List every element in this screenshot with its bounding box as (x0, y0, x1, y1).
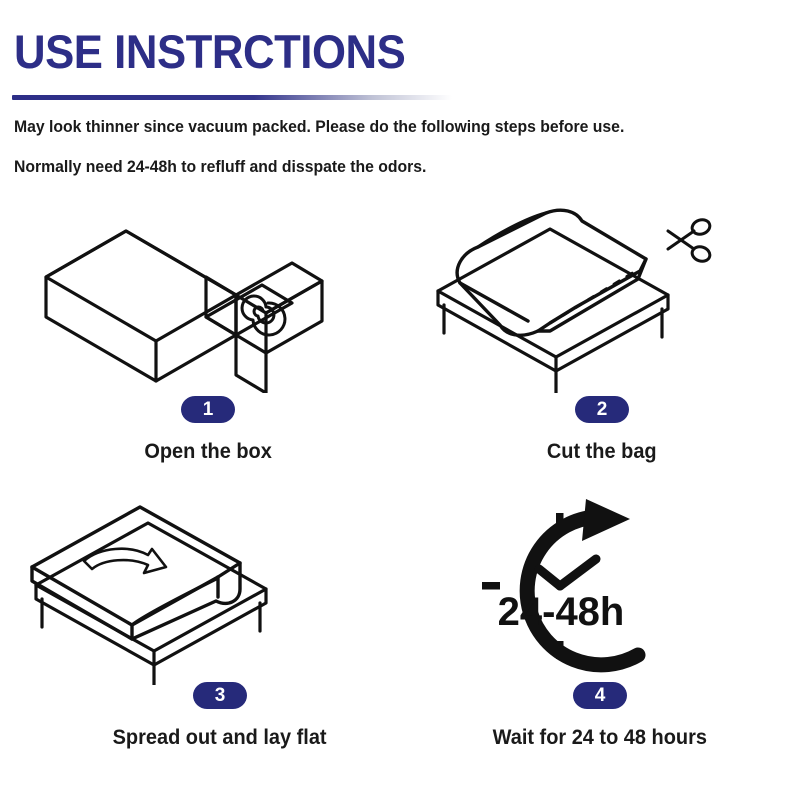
step-badge-3: 3 (193, 682, 247, 709)
clock-duration-label: 24-48h (498, 590, 625, 634)
step-badge-4: 4 (573, 682, 627, 709)
title-divider (12, 95, 452, 100)
clock-illustration: 24-48h (400, 497, 800, 685)
open-the-box-illustration (0, 205, 400, 393)
step-caption-1-text: Open the box (144, 439, 271, 465)
step-caption-1: Open the box (0, 439, 408, 465)
step-caption-2-text: Cut the bag (547, 439, 657, 465)
steps-grid: 1 Open the box (0, 205, 800, 790)
spread-out-illustration (0, 497, 400, 685)
step-item-3: 3 Spread out and lay flat (0, 497, 400, 789)
step-caption-2: Cut the bag (400, 439, 800, 465)
step-item-2: 2 Cut the bag (400, 205, 800, 497)
intro-text-line-1: May look thinner since vacuum packed. Pl… (14, 117, 624, 137)
page-title: USE INSTRCTIONS (14, 26, 405, 78)
step-caption-3-text: Spread out and lay flat (113, 725, 327, 751)
step-caption-4-text: Wait for 24 to 48 hours (493, 725, 707, 751)
step-item-4: 24-48h 4 Wait for 24 to 48 hours (400, 497, 800, 789)
step-caption-4: Wait for 24 to 48 hours (400, 725, 800, 751)
step-item-1: 1 Open the box (0, 205, 400, 497)
step-badge-2: 2 (575, 396, 629, 423)
step-caption-3: Spread out and lay flat (0, 725, 420, 751)
step-badge-1: 1 (181, 396, 235, 423)
cut-the-bag-illustration (400, 205, 800, 393)
intro-text-line-2: Normally need 24-48h to refluff and diss… (14, 157, 426, 177)
clock-ring-icon (527, 499, 638, 665)
